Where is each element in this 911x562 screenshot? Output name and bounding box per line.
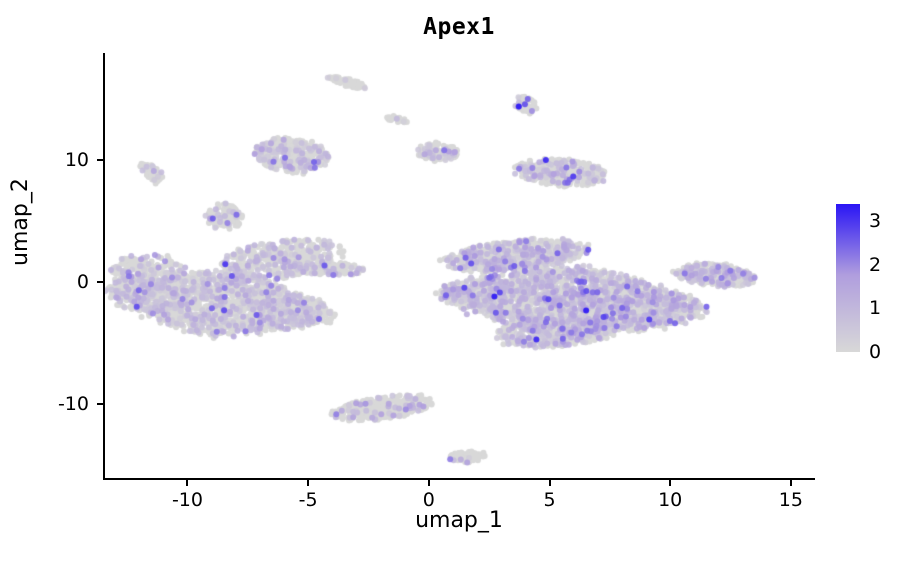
y-axis-label: umap_2 <box>8 178 33 266</box>
y-tick-label: 10 <box>65 149 89 171</box>
x-tick-mark <box>307 480 309 486</box>
y-tick-mark <box>97 281 103 283</box>
scatter-plot-canvas <box>103 53 815 480</box>
colorbar-tick-label: 3 <box>869 210 881 232</box>
y-axis-spine <box>103 53 105 480</box>
y-tick-mark <box>97 159 103 161</box>
x-tick-mark <box>186 480 188 486</box>
page-title: Apex1 <box>103 14 815 40</box>
plot-axes: -10-5051015 -10010 <box>103 53 815 480</box>
x-tick-mark <box>549 480 551 486</box>
colorbar: 0123 <box>836 204 860 352</box>
umap-figure: Apex1 -10-5051015 -10010 umap_1 umap_2 0… <box>0 0 911 562</box>
x-axis-label: umap_1 <box>103 508 815 533</box>
colorbar-tick-label: 1 <box>869 297 881 319</box>
colorbar-tick-mark <box>860 220 864 222</box>
x-axis-spine <box>103 478 815 480</box>
x-tick-mark <box>790 480 792 486</box>
colorbar-gradient <box>836 204 860 352</box>
y-tick-label: -10 <box>58 393 89 415</box>
y-tick-mark <box>97 403 103 405</box>
y-tick-label: 0 <box>77 271 89 293</box>
colorbar-tick-mark <box>860 307 864 309</box>
x-tick-mark <box>669 480 671 486</box>
x-tick-mark <box>428 480 430 486</box>
colorbar-tick-mark <box>860 351 864 353</box>
colorbar-tick-label: 2 <box>869 254 881 276</box>
colorbar-tick-label: 0 <box>869 341 881 363</box>
colorbar-tick-mark <box>860 264 864 266</box>
